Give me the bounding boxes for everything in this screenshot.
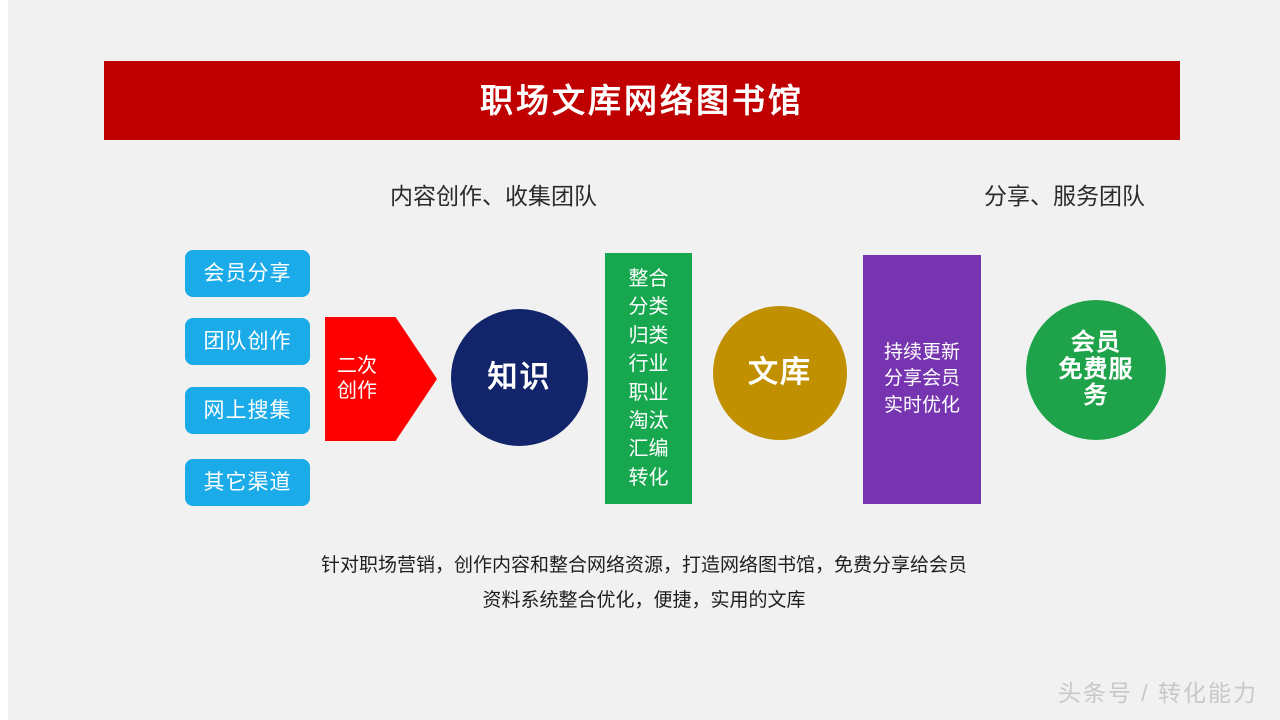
process-panel-line: 行业 xyxy=(629,350,669,378)
source-box-label: 会员分享 xyxy=(204,263,292,284)
arrow-label-line-1: 二次 xyxy=(337,354,377,379)
knowledge-circle-label: 知识 xyxy=(488,361,552,395)
source-box-member-share[interactable]: 会员分享 xyxy=(185,250,310,297)
process-panel-line: 分类 xyxy=(629,293,669,321)
process-panel-line: 归类 xyxy=(629,322,669,350)
update-panel-line: 分享会员 xyxy=(884,366,960,392)
update-panel-line: 持续更新 xyxy=(884,340,960,366)
process-panel-line: 转化 xyxy=(629,464,669,492)
process-panel: 整合 分类 归类 行业 职业 淘汰 汇编 转化 xyxy=(605,253,692,504)
caption-line-2: 资料系统整合优化，便捷，实用的文库 xyxy=(8,583,1280,618)
section-label-left: 内容创作、收集团队 xyxy=(390,185,597,208)
update-panel: 持续更新 分享会员 实时优化 xyxy=(863,255,981,504)
caption-line-1: 针对职场营销，创作内容和整合网络资源，打造网络图书馆，免费分享给会员 xyxy=(8,548,1280,583)
library-circle: 文库 xyxy=(713,306,847,440)
process-panel-line: 淘汰 xyxy=(629,407,669,435)
title-banner: 职场文库网络图书馆 xyxy=(104,61,1180,140)
section-label-right: 分享、服务团队 xyxy=(984,185,1145,208)
watermark: 头条号 / 转化能力 xyxy=(1058,674,1258,708)
page-title: 职场文库网络图书馆 xyxy=(480,84,804,117)
arrow-label-line-2: 创作 xyxy=(337,379,377,404)
service-circle-line: 免费服 xyxy=(1059,357,1134,384)
source-box-online-collection[interactable]: 网上搜集 xyxy=(185,387,310,434)
library-circle-label: 文库 xyxy=(748,356,812,390)
slide-canvas: 职场文库网络图书馆 内容创作、收集团队 分享、服务团队 会员分享 团队创作 网上… xyxy=(8,0,1280,720)
update-panel-line: 实时优化 xyxy=(884,393,960,419)
source-box-team-creation[interactable]: 团队创作 xyxy=(185,318,310,365)
arrow-right-icon: 二次 创作 xyxy=(325,317,437,441)
knowledge-circle: 知识 xyxy=(451,309,588,446)
process-panel-line: 整合 xyxy=(629,265,669,293)
source-box-label: 网上搜集 xyxy=(204,400,292,421)
source-box-label: 团队创作 xyxy=(204,331,292,352)
service-circle: 会员 免费服 务 xyxy=(1026,300,1166,440)
service-circle-line: 务 xyxy=(1084,383,1109,410)
caption: 针对职场营销，创作内容和整合网络资源，打造网络图书馆，免费分享给会员 资料系统整… xyxy=(8,548,1280,618)
process-panel-line: 职业 xyxy=(629,379,669,407)
source-box-label: 其它渠道 xyxy=(204,472,292,493)
service-circle-line: 会员 xyxy=(1071,330,1121,357)
process-panel-line: 汇编 xyxy=(629,435,669,463)
source-box-other-channels[interactable]: 其它渠道 xyxy=(185,459,310,506)
